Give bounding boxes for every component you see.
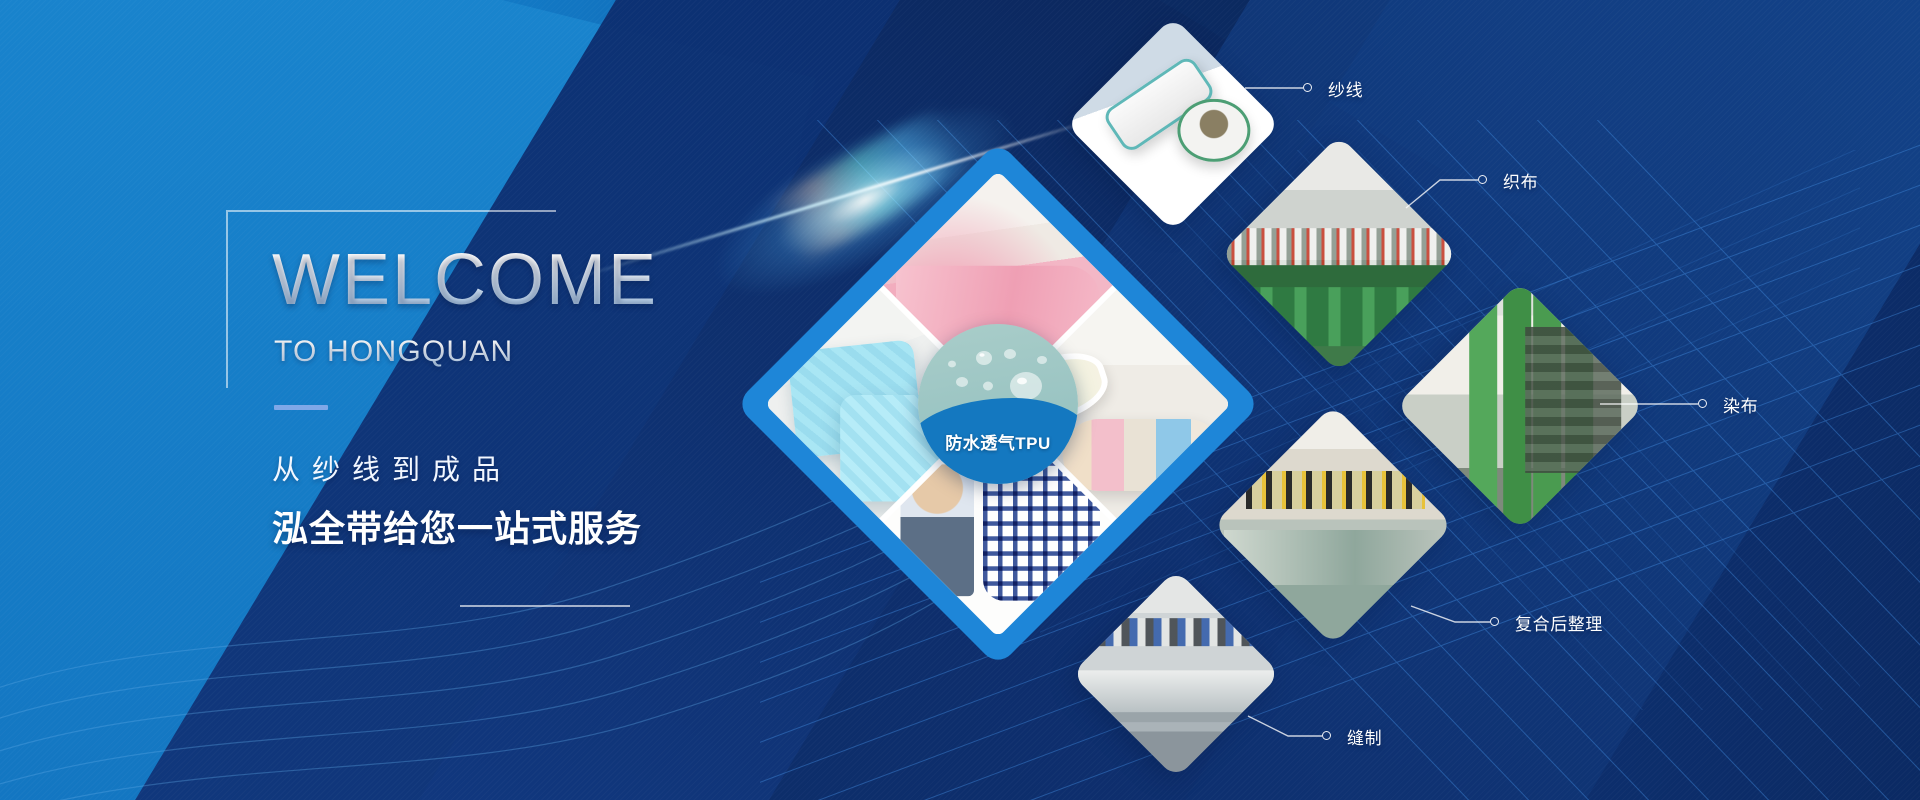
sewing-photo-tile <box>1071 569 1280 778</box>
dyeing-machine-image <box>1396 282 1645 531</box>
process-label-yarn: 纱线 <box>1328 76 1363 101</box>
yarn-spools-image <box>1066 17 1281 232</box>
process-node-weave[interactable] <box>1255 170 1423 338</box>
yarn-photo-tile <box>1066 17 1281 232</box>
accent-rule <box>274 405 328 410</box>
page-subtitle: TO HONGQUAN <box>274 337 513 367</box>
weave-photo-tile <box>1220 135 1458 373</box>
page-title: WELCOME <box>272 244 658 316</box>
process-label-dye: 染布 <box>1723 392 1758 417</box>
process-node-yarn[interactable] <box>1097 48 1249 200</box>
hero-banner: WELCOME TO HONGQUAN 从纱线到成品 泓全带给您一站式服务 <box>0 0 1920 800</box>
badge-label: 防水透气TPU <box>918 429 1078 454</box>
process-node-lamination[interactable] <box>1248 440 1418 610</box>
dye-photo-tile <box>1396 282 1645 531</box>
tagline-chinese: 从纱线到成品 <box>272 448 512 488</box>
process-label-sewing: 缝制 <box>1347 724 1382 749</box>
weaving-factory-image <box>1220 135 1458 373</box>
sewing-workshop-image <box>1071 569 1280 778</box>
process-label-weave: 织布 <box>1503 168 1538 193</box>
process-node-sewing[interactable] <box>1102 600 1250 748</box>
headline-chinese: 泓全带给您一站式服务 <box>272 500 642 552</box>
process-node-dye[interactable] <box>1432 318 1608 494</box>
tpu-badge[interactable]: 防水透气TPU <box>918 324 1078 484</box>
bottom-divider <box>460 605 630 607</box>
process-label-lamination: 复合后整理 <box>1515 610 1603 635</box>
